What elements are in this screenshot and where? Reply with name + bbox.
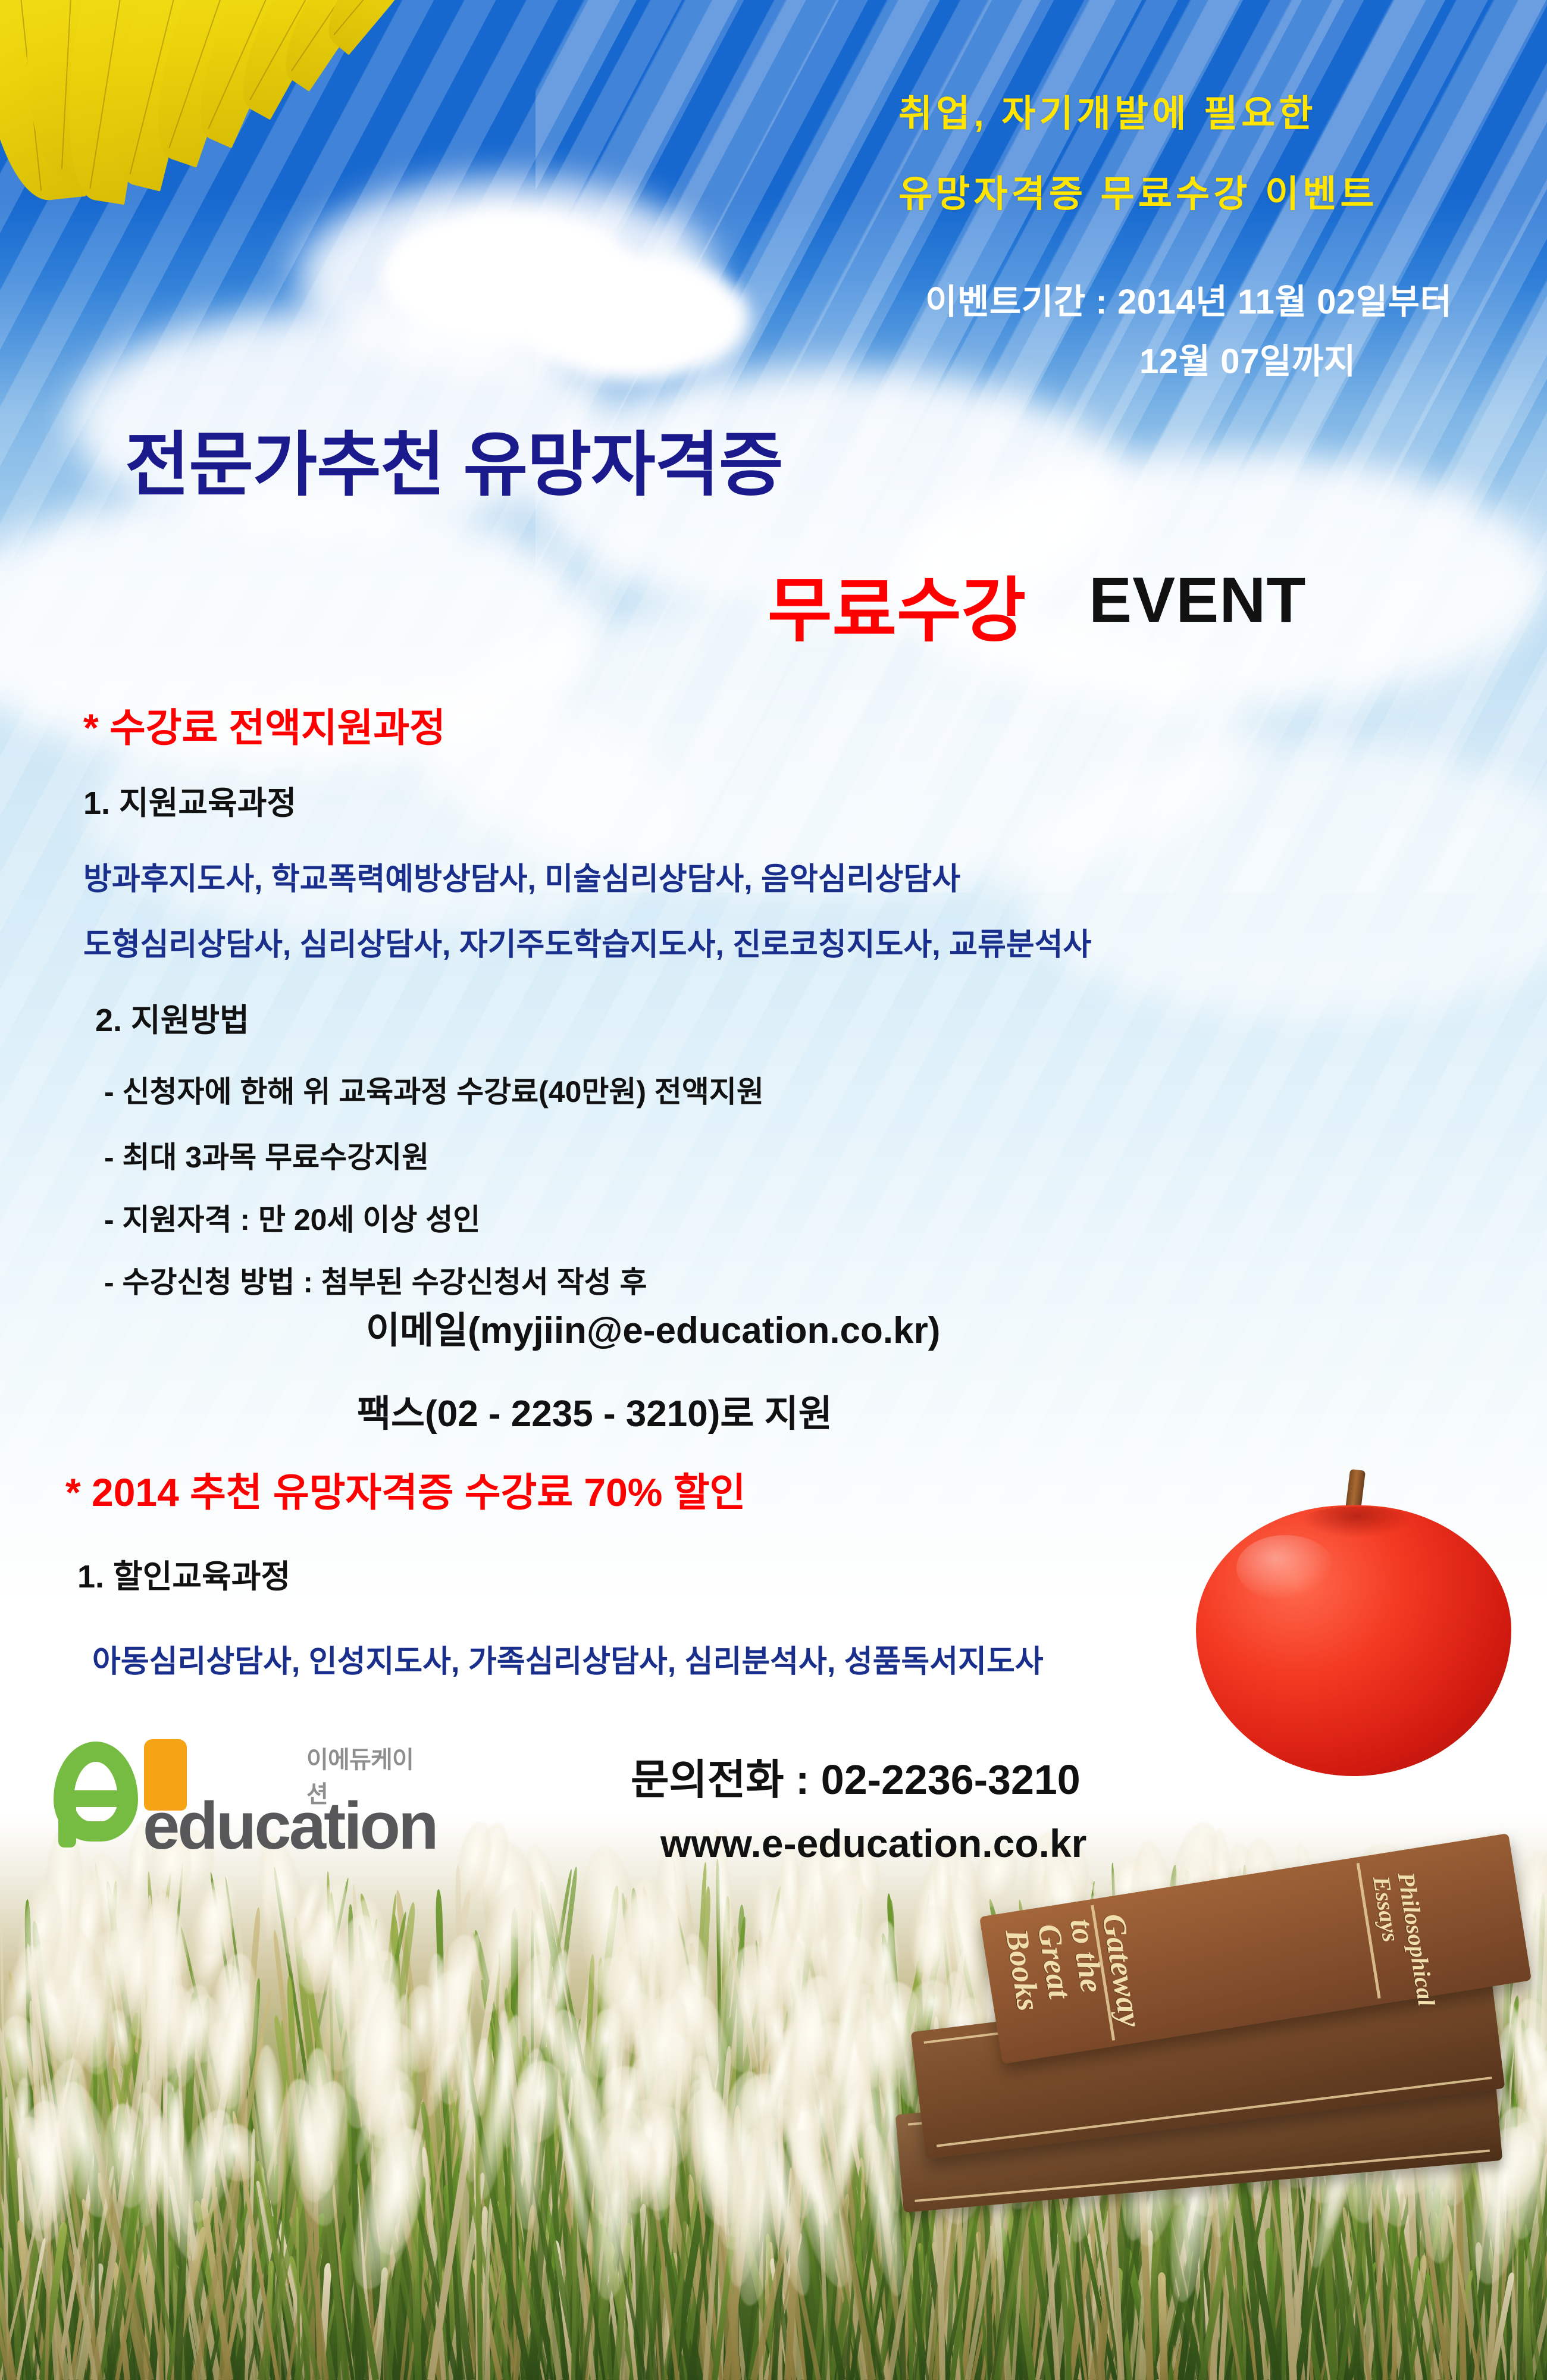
- free-courses-line-1: 방과후지도사, 학교폭력예방상담사, 미술심리상담사, 음악심리상담사: [83, 854, 960, 898]
- e-education-logo[interactable]: education 이에듀케이션: [54, 1728, 434, 1856]
- free-bullet-2: - 최대 3과목 무료수강지원: [104, 1133, 429, 1176]
- book-spine-title-1: Gateway to the Great Books: [1000, 1911, 1148, 2055]
- discount-subsection-1-label: 1. 할인교육과정: [77, 1550, 290, 1597]
- free-courses-line-2: 도형심리상담사, 심리상담사, 자기주도학습지도사, 진로코칭지도사, 교류분석…: [83, 919, 1091, 964]
- logo-e-tail-icon: [58, 1790, 76, 1847]
- free-subsection-1-label: 1. 지원교육과정: [83, 776, 296, 823]
- tagline-line-2: 유망자격증 무료수강 이벤트: [898, 164, 1378, 217]
- application-email-line: 이메일(myjiin@e-education.co.kr): [366, 1300, 940, 1354]
- free-bullet-3: - 지원자격 : 만 20세 이상 성인: [104, 1196, 480, 1239]
- free-section-heading: * 수강료 전액지원과정: [83, 696, 446, 753]
- red-apple-decoration: [1196, 1470, 1511, 1779]
- discount-section-heading: * 2014 추천 유망자격증 수강료 70% 할인: [65, 1461, 746, 1518]
- free-bullet-4: - 수강신청 방법 : 첨부된 수강신청서 작성 후: [104, 1258, 647, 1301]
- book-spine-title-2: Philosophical Essays: [1368, 1871, 1436, 1996]
- main-title-line-1: 전문가추천 유망자격증: [125, 408, 782, 509]
- autumn-leaves-decoration: [0, 0, 512, 274]
- contact-phone-line: 문의전화 : 02-2236-3210: [631, 1746, 1081, 1806]
- event-period-line-1: 이벤트기간 : 2014년 11월 02일부터: [925, 274, 1452, 324]
- event-period-line-2: 12월 07일까지: [1139, 333, 1356, 383]
- free-bullet-1: - 신청자에 한해 위 교육과정 수강료(40만원) 전액지원: [104, 1068, 764, 1111]
- discount-courses-line-1: 아동심리상담사, 인성지도사, 가족심리상담사, 심리분석사, 성품독서지도사: [92, 1636, 1044, 1681]
- main-title-event: EVENT: [1089, 562, 1306, 637]
- application-fax-line: 팩스(02 - 2235 - 3210)로 지원: [357, 1383, 832, 1437]
- logo-korean-name: 이에듀케이션: [306, 1740, 434, 1809]
- tagline-line-1: 취업, 자기개발에 필요한: [898, 83, 1317, 137]
- main-title-free: 무료수강: [768, 553, 1026, 655]
- contact-website-line[interactable]: www.e-education.co.kr: [660, 1821, 1086, 1866]
- poster-canvas: 취업, 자기개발에 필요한 유망자격증 무료수강 이벤트 이벤트기간 : 201…: [0, 0, 1547, 2380]
- free-subsection-2-label: 2. 지원방법: [95, 994, 249, 1041]
- stacked-books-decoration: Gateway to the Great Books Philosophical…: [881, 1874, 1547, 2207]
